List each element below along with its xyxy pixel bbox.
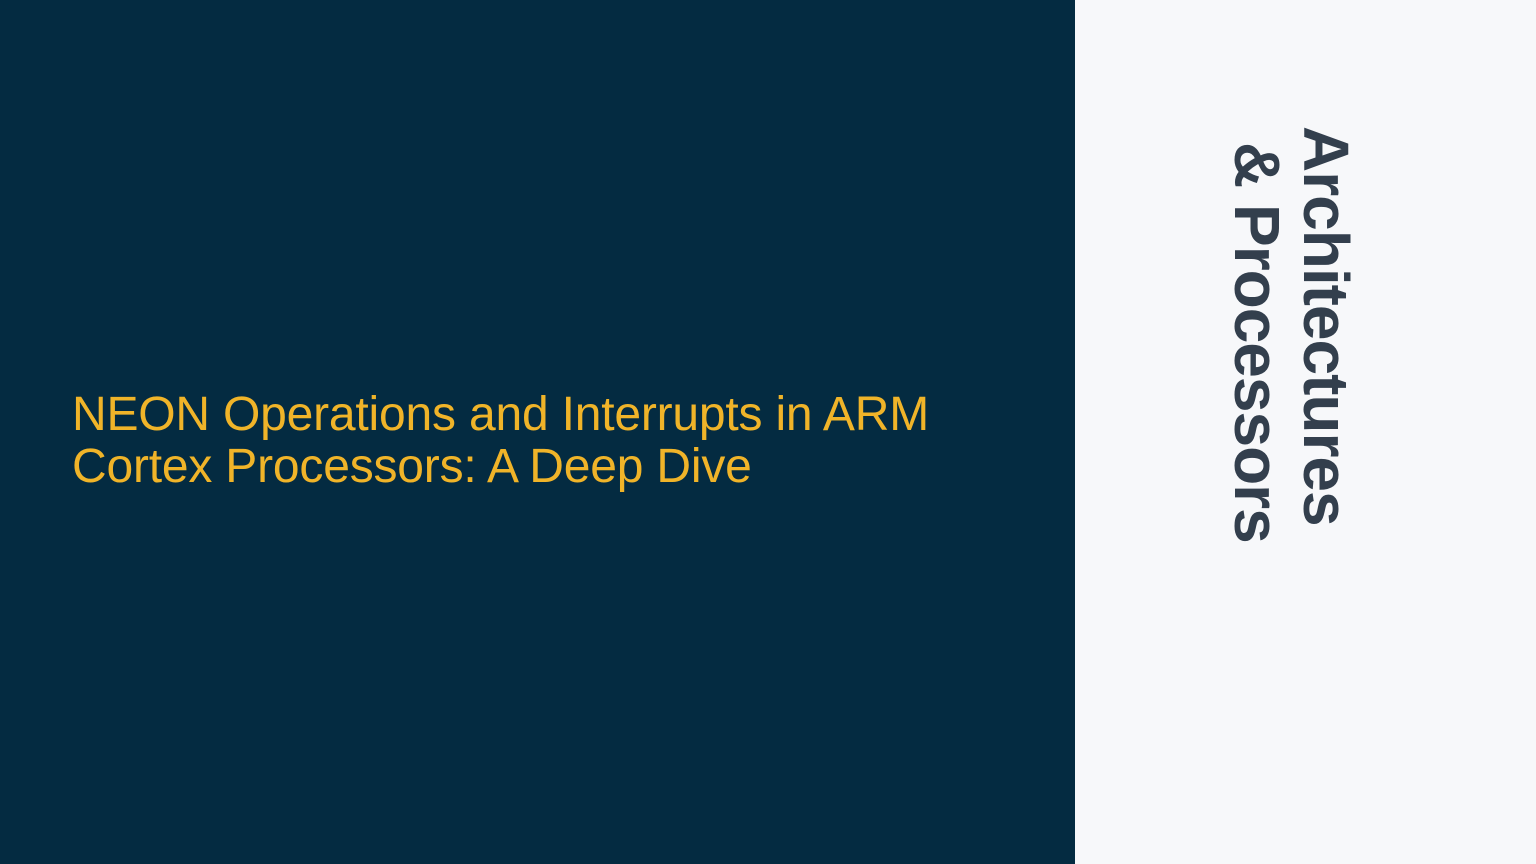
category-line-architectures: Architectures: [1294, 126, 1358, 526]
title-panel: NEON Operations and Interrupts in ARM Co…: [0, 0, 1075, 864]
vertical-category-stack: Architectures & Processors: [1075, 0, 1536, 864]
slide-title: NEON Operations and Interrupts in ARM Co…: [72, 389, 945, 493]
slide-canvas: NEON Operations and Interrupts in ARM Co…: [0, 0, 1536, 864]
category-line-processors: & Processors: [1225, 142, 1289, 543]
category-panel: Architectures & Processors: [1075, 0, 1536, 864]
title-block: NEON Operations and Interrupts in ARM Co…: [0, 389, 1005, 493]
